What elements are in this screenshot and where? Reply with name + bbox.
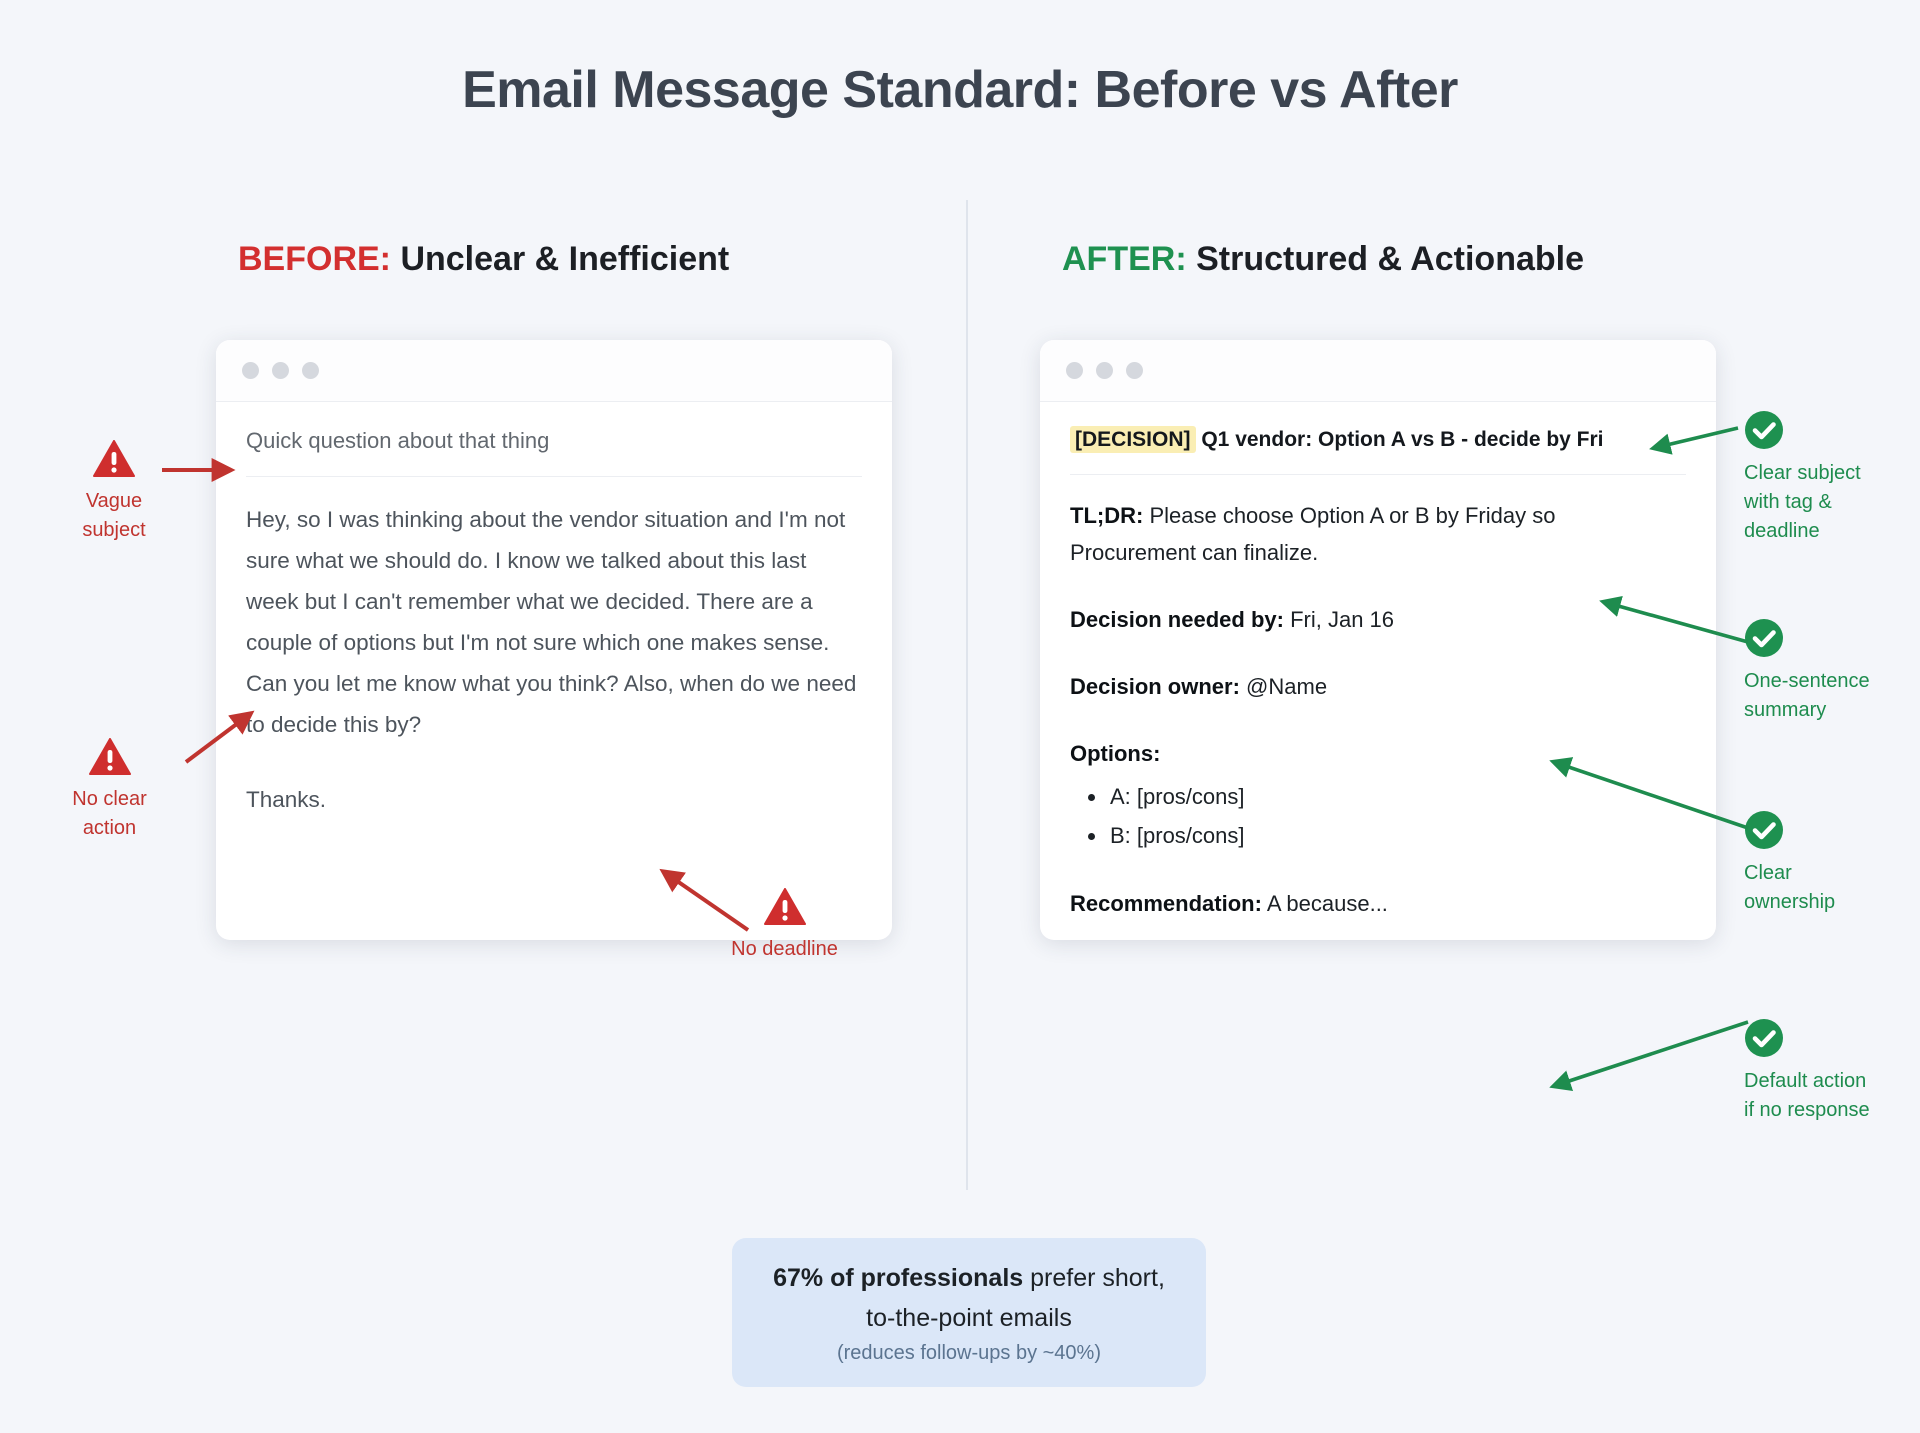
tldr-text: Please choose Option A or B by Friday so… bbox=[1070, 503, 1555, 565]
after-headline: Structured & Actionable bbox=[1196, 240, 1584, 278]
window-dot-minimize-icon bbox=[1096, 362, 1113, 379]
page-title: Email Message Standard: Before vs After bbox=[0, 60, 1920, 120]
before-column-header: BEFORE: Unclear & Inefficient bbox=[238, 240, 729, 279]
decision-tag-badge: [DECISION] bbox=[1070, 426, 1196, 453]
window-dot-close-icon bbox=[242, 362, 259, 379]
arrow-to-owner-icon bbox=[1540, 750, 1760, 840]
before-email-body: Quick question about that thing Hey, so … bbox=[216, 402, 892, 820]
owner-label: Decision owner: bbox=[1070, 674, 1240, 699]
recommendation-label: Recommendation: bbox=[1070, 891, 1262, 916]
annotation-label: Default action if no response bbox=[1744, 1067, 1920, 1125]
arrow-to-after-subject-icon bbox=[1640, 420, 1750, 470]
deadline-value: Fri, Jan 16 bbox=[1290, 607, 1394, 632]
statistic-note: (reduces follow-ups by ~40%) bbox=[758, 1342, 1180, 1365]
recommendation-row: Recommendation: A because... bbox=[1070, 885, 1686, 922]
after-email-body: [DECISION] Q1 vendor: Option A vs B - de… bbox=[1040, 402, 1716, 940]
window-titlebar bbox=[216, 340, 892, 402]
annotation-clear-ownership: Clear ownership bbox=[1744, 810, 1914, 917]
after-subject: [DECISION] Q1 vendor: Option A vs B - de… bbox=[1070, 428, 1686, 475]
owner-value: @Name bbox=[1246, 674, 1327, 699]
check-circle-icon bbox=[1744, 410, 1784, 450]
after-message-structured: TL;DR: Please choose Option A or B by Fr… bbox=[1070, 475, 1686, 940]
annotation-vague-subject: Vague subject bbox=[54, 440, 174, 545]
tldr-label: TL;DR: bbox=[1070, 503, 1143, 528]
warning-triangle-icon bbox=[93, 440, 135, 478]
before-message-text: Hey, so I was thinking about the vendor … bbox=[246, 477, 862, 820]
window-titlebar bbox=[1040, 340, 1716, 402]
after-column-header: AFTER: Structured & Actionable bbox=[1062, 240, 1584, 279]
annotation-no-clear-action: No clear action bbox=[42, 738, 177, 843]
arrow-to-missing-deadline-icon bbox=[650, 862, 780, 952]
window-dot-maximize-icon bbox=[302, 362, 319, 379]
recommendation-value: A because... bbox=[1267, 891, 1388, 916]
after-subject-text: Q1 vendor: Option A vs B - decide by Fri bbox=[1201, 428, 1603, 451]
annotation-label: No clear action bbox=[42, 785, 177, 843]
column-divider bbox=[966, 200, 968, 1190]
annotation-label: Clear subject with tag & deadline bbox=[1744, 459, 1914, 546]
arrow-to-subject-icon bbox=[160, 455, 250, 495]
before-paragraph-2: Thanks. bbox=[246, 779, 862, 820]
statistic-highlight: 67% of professionals bbox=[773, 1264, 1023, 1292]
before-headline: Unclear & Inefficient bbox=[400, 240, 729, 278]
owner-row: Decision owner: @Name bbox=[1070, 668, 1686, 705]
statistic-callout: 67% of professionals prefer short, to-th… bbox=[732, 1238, 1206, 1387]
before-paragraph-1: Hey, so I was thinking about the vendor … bbox=[246, 499, 862, 745]
statistic-main-text: 67% of professionals prefer short, to-th… bbox=[758, 1258, 1180, 1338]
annotation-one-sentence-summary: One-sentence summary bbox=[1744, 618, 1919, 725]
warning-triangle-icon bbox=[89, 738, 131, 776]
arrow-to-fallback-icon bbox=[1540, 1010, 1760, 1100]
arrow-to-tldr-icon bbox=[1590, 590, 1760, 660]
annotation-label: One-sentence summary bbox=[1744, 667, 1919, 725]
before-tag: BEFORE: bbox=[238, 240, 391, 278]
annotation-label: Clear ownership bbox=[1744, 859, 1914, 917]
window-dot-minimize-icon bbox=[272, 362, 289, 379]
annotation-label: Vague subject bbox=[54, 487, 174, 545]
after-tag: AFTER: bbox=[1062, 240, 1187, 278]
annotation-clear-subject: Clear subject with tag & deadline bbox=[1744, 410, 1914, 546]
options-label: Options: bbox=[1070, 741, 1160, 766]
tldr-row: TL;DR: Please choose Option A or B by Fr… bbox=[1070, 497, 1686, 571]
arrow-to-body-icon bbox=[182, 700, 292, 780]
infographic-page: Email Message Standard: Before vs After … bbox=[0, 0, 1920, 1433]
before-subject: Quick question about that thing bbox=[246, 428, 862, 477]
window-dot-close-icon bbox=[1066, 362, 1083, 379]
window-dot-maximize-icon bbox=[1126, 362, 1143, 379]
annotation-default-action: Default action if no response bbox=[1744, 1018, 1920, 1125]
before-email-card: Quick question about that thing Hey, so … bbox=[216, 340, 892, 940]
deadline-label: Decision needed by: bbox=[1070, 607, 1284, 632]
